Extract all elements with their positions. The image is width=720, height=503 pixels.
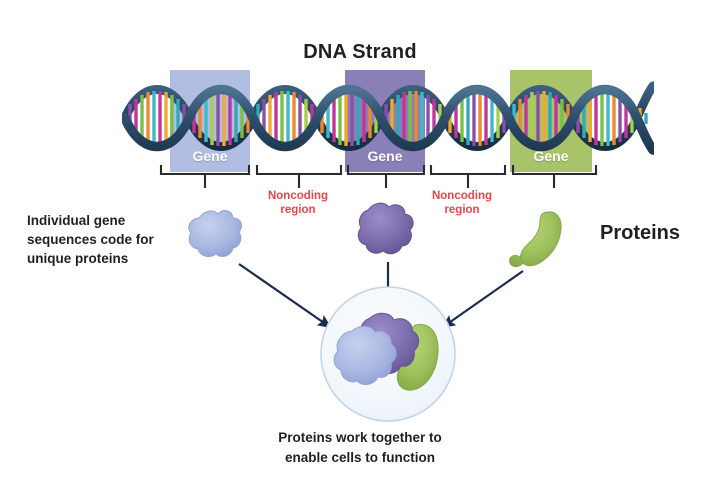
noncoding-region-label-2: Noncoding region: [407, 190, 517, 218]
gene-label-2: Gene: [345, 148, 425, 164]
page-title: DNA Strand: [0, 41, 720, 64]
gene-label-3: Gene: [510, 148, 592, 164]
arrow-protein-green-to-cell: [443, 271, 523, 327]
bracket-noncoding-2: [431, 165, 505, 174]
protein-blue[interactable]: [189, 211, 242, 257]
cell-protein-blue: [334, 326, 396, 384]
diagram-canvas: DNA Strand Individual gene sequences cod…: [0, 0, 720, 503]
proteins-heading: Proteins: [600, 222, 715, 245]
protein-purple[interactable]: [358, 203, 413, 254]
bracket-noncoding-1: [257, 165, 341, 174]
left-annotation: Individual gene sequences code for uniqu…: [27, 211, 192, 268]
protein-green[interactable]: [510, 212, 562, 267]
gene-label-1: Gene: [170, 148, 250, 164]
noncoding-region-label-1: Noncoding region: [243, 190, 353, 218]
arrow-protein-blue-to-cell: [239, 264, 330, 327]
bottom-caption: Proteins work together to enable cells t…: [240, 428, 480, 467]
